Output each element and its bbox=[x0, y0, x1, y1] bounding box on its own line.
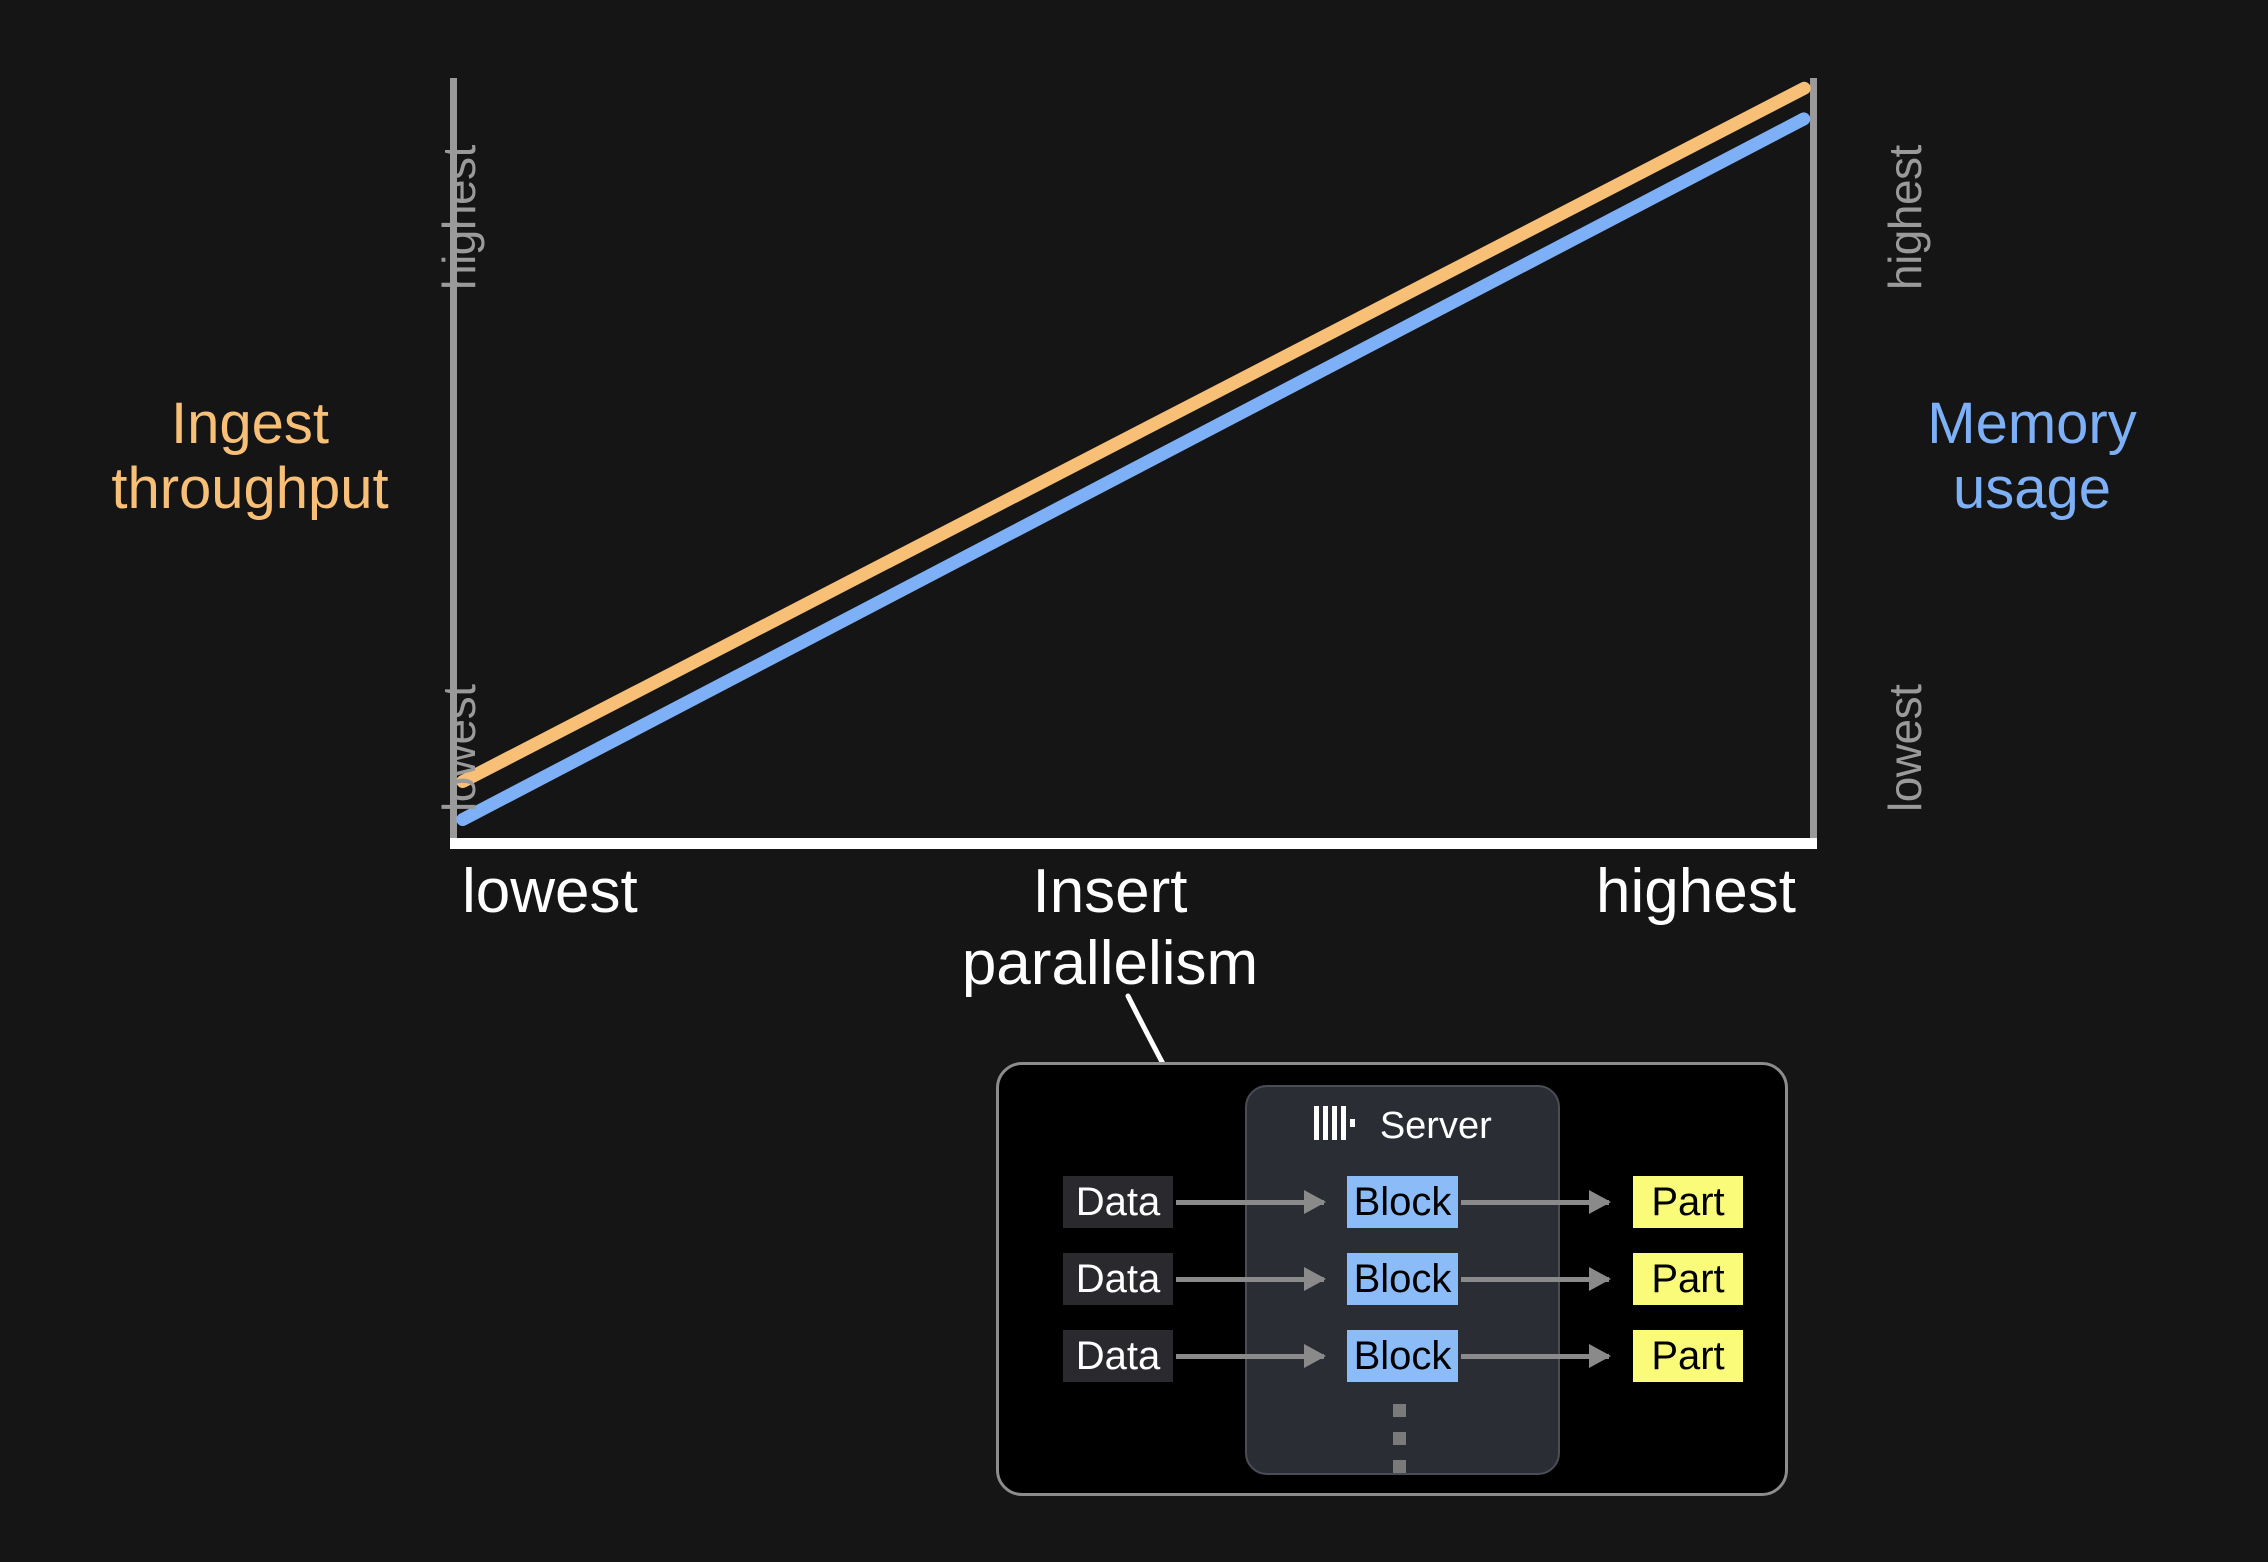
data-to-block-arrow bbox=[1176, 1277, 1324, 1282]
data-node[interactable]: Data bbox=[1063, 1330, 1173, 1382]
part-node[interactable]: Part bbox=[1633, 1330, 1743, 1382]
series-line-memory-usage bbox=[454, 110, 1813, 828]
x-axis-tick-highest: highest bbox=[1596, 856, 1796, 927]
data-to-block-arrow bbox=[1176, 1354, 1324, 1359]
part-node[interactable]: Part bbox=[1633, 1176, 1743, 1228]
right-y-axis-line bbox=[1810, 78, 1817, 846]
part-node[interactable]: Part bbox=[1633, 1253, 1743, 1305]
block-to-part-arrow bbox=[1461, 1354, 1609, 1359]
x-axis-tick-lowest: lowest bbox=[462, 856, 638, 927]
vertical-ellipsis-icon bbox=[1393, 1432, 1406, 1445]
data-to-block-arrow bbox=[1176, 1200, 1324, 1205]
left-axis-tick-highest: highest bbox=[432, 145, 486, 290]
vertical-ellipsis-icon bbox=[1393, 1460, 1406, 1473]
x-axis-title: Insert parallelism bbox=[900, 856, 1320, 1000]
right-axis-tick-highest: highest bbox=[1878, 145, 1932, 290]
block-node[interactable]: Block bbox=[1347, 1253, 1458, 1305]
block-to-part-arrow bbox=[1461, 1277, 1609, 1282]
data-node[interactable]: Data bbox=[1063, 1253, 1173, 1305]
vertical-ellipsis-icon bbox=[1393, 1404, 1406, 1417]
chart-area: highest lowest highest lowest Ingest thr… bbox=[0, 0, 2268, 1000]
server-header: Server bbox=[1245, 1105, 1560, 1150]
series-line-ingest-throughput bbox=[454, 80, 1813, 791]
block-node[interactable]: Block bbox=[1347, 1176, 1458, 1228]
clickhouse-logo-icon bbox=[1313, 1106, 1357, 1150]
x-axis-line bbox=[450, 838, 1817, 849]
server-label: Server bbox=[1380, 1105, 1492, 1148]
block-to-part-arrow bbox=[1461, 1200, 1609, 1205]
block-node[interactable]: Block bbox=[1347, 1330, 1458, 1382]
left-axis-title: Ingest throughput bbox=[80, 392, 420, 522]
right-axis-title: Memory usage bbox=[1852, 392, 2212, 522]
data-node[interactable]: Data bbox=[1063, 1176, 1173, 1228]
right-axis-tick-lowest: lowest bbox=[1878, 685, 1932, 812]
left-axis-tick-lowest: lowest bbox=[432, 685, 486, 812]
